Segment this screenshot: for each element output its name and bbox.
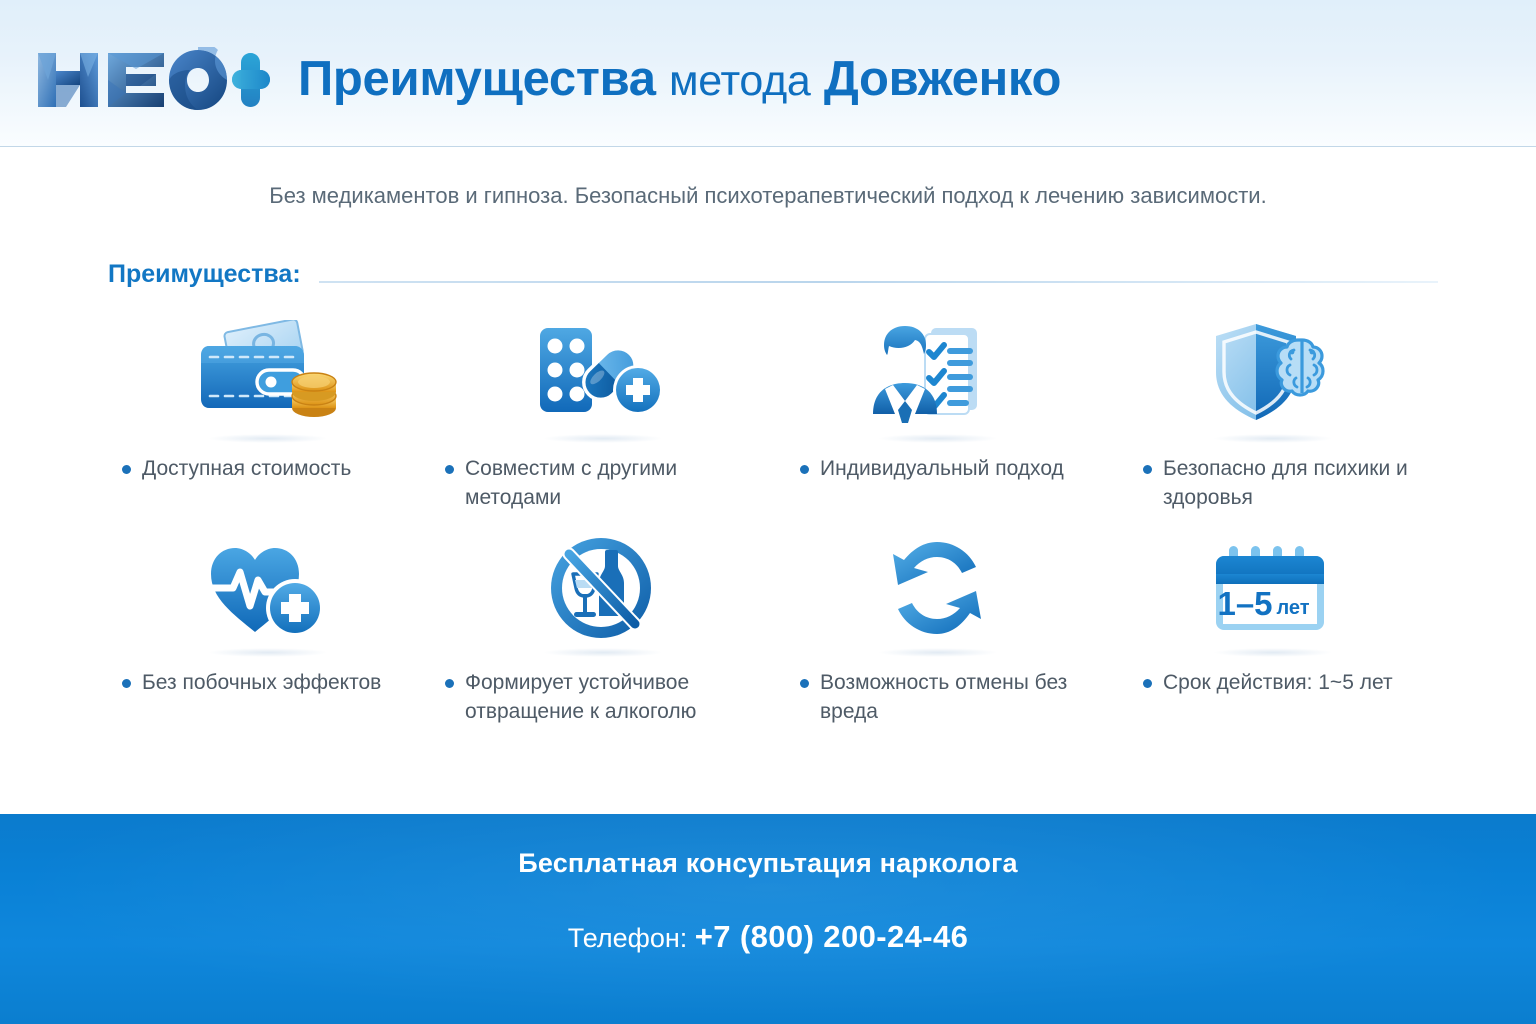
wallet-with-coins-icon [100,312,435,430]
benefit-item: Совместим с другими методами [435,312,770,526]
benefit-caption: Формирует устойчивое отвращение к алкого… [435,668,770,726]
calendar-years-unit: лет [1276,597,1309,619]
benefits-section-title: Преимущества: [108,260,301,289]
benefits-grid: Доступная стоимость [100,312,1440,740]
no-alcohol-icon [435,526,770,644]
benefit-item: Доступная стоимость [100,312,435,526]
benefit-label: Без побочных эффектов [142,668,381,697]
benefit-label: Безопасно для психики и здоровья [1163,454,1434,512]
phone-number[interactable]: +7 (800) 200-24-46 [695,919,968,954]
benefit-item: Возможность отмены без вреда [770,526,1105,740]
benefit-label: Индивидуальный подход [820,454,1064,483]
footer-headline: Бесплатная консупьтация нарколога [0,848,1536,879]
icon-shadow [878,648,998,657]
benefit-label: Срок действия: 1~5 лет [1163,668,1393,697]
page-subtitle: Без медикаментов и гипноза. Безопасный п… [0,180,1536,212]
benefit-caption: Совместим с другими методами [435,454,770,512]
benefit-label: Формирует устойчивое отвращение к алкого… [465,668,764,726]
benefit-item: Без побочных эффектов [100,526,435,740]
bullet-dot [800,465,809,474]
benefit-item: Формирует устойчивое отвращение к алкого… [435,526,770,740]
refresh-arrows-icon [770,526,1105,644]
icon-shadow [543,648,663,657]
icon-shadow [208,434,328,443]
bullet-dot [445,465,454,474]
infographic-page: Преимущества метода Довженко Без медикам… [0,0,1536,1024]
calendar-1-5-years-icon: 1–5 лет [1105,526,1440,644]
benefit-caption: Доступная стоимость [100,454,435,483]
page-title: Преимущества метода Довженко [298,50,1061,110]
icon-shadow [543,434,663,443]
icon-shadow [1213,648,1333,657]
benefits-section-header: Преимущества: [108,260,1438,289]
neo-plus-logo [36,47,272,113]
calendar-years-number: 1–5 [1217,585,1272,622]
doctor-with-checklist-icon [770,312,1105,430]
benefit-item: Безопасно для психики и здоровья [1105,312,1440,526]
bullet-dot [1143,679,1152,688]
bullet-dot [445,679,454,688]
footer-cta-bar: Бесплатная консупьтация нарколога Телефо… [0,814,1536,1024]
bullet-dot [1143,465,1152,474]
page-title-part-2: метода [669,57,810,105]
benefit-label: Совместим с другими методами [465,454,764,512]
benefit-item: Индивидуальный подход [770,312,1105,526]
bullet-dot [800,679,809,688]
bullet-dot [122,679,131,688]
benefit-caption: Без побочных эффектов [100,668,435,697]
benefit-caption: Возможность отмены без вреда [770,668,1105,726]
shield-with-brain-icon [1105,312,1440,430]
benefit-caption: Индивидуальный подход [770,454,1105,483]
page-title-part-3: Довженко [824,52,1061,106]
section-divider [319,281,1438,283]
icon-shadow [1213,434,1333,443]
benefit-label: Доступная стоимость [142,454,351,483]
icon-shadow [208,648,328,657]
benefit-caption: Срок действия: 1~5 лет [1105,668,1440,697]
bullet-dot [122,465,131,474]
benefit-caption: Безопасно для психики и здоровья [1105,454,1440,512]
page-title-part-1: Преимущества [298,52,656,106]
header-bar: Преимущества метода Довженко [0,0,1536,147]
header-content: Преимущества метода Довженко [36,47,1061,113]
benefit-item: 1–5 лет Срок действия: 1~5 лет [1105,526,1440,740]
benefit-label: Возможность отмены без вреда [820,668,1099,726]
icon-shadow [878,434,998,443]
heart-pulse-plus-icon [100,526,435,644]
phone-label: Телефон: [568,923,688,953]
footer-phone-line: Телефон: +7 (800) 200-24-46 [0,919,1536,955]
pills-blister-capsule-plus-icon [435,312,770,430]
